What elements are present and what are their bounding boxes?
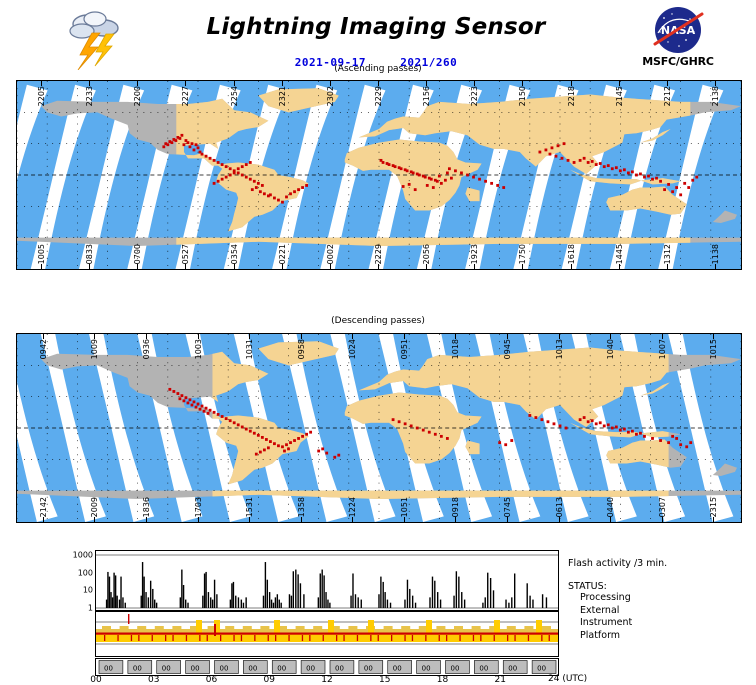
orbit-time-label-top: 1031 [245,339,254,359]
svg-text:00: 00 [133,665,142,673]
y-tick-label: 100 [78,568,93,577]
tick-mark [404,517,405,522]
x-tick-label: 06 [206,675,217,685]
tick-mark [249,517,250,522]
descending-orbit-map[interactable]: 0942100909361003103109581024095110180945… [16,333,742,523]
orbit-time-label-top: 1015 [709,339,718,359]
orbit-time-label-top: 2229 [374,86,383,106]
legend-item-instrument: Instrument [580,617,756,630]
tick-mark [41,264,42,269]
orbit-time-label-top: 0951 [400,339,409,359]
svg-text:00: 00 [479,665,488,673]
orbit-time-label-bottom: 1703 [194,497,203,517]
orbit-time-label-top: 0958 [297,339,306,359]
orbit-time-label-top: 2223 [470,86,479,106]
tick-mark [559,517,560,522]
descending-map-graphics [17,334,741,522]
svg-text:00: 00 [422,665,431,673]
orbit-time-label-top: 2254 [230,86,239,106]
orbit-time-label-bottom: 1051 [400,497,409,517]
orbit-time-label-top: 1009 [90,339,99,359]
tick-mark [662,517,663,522]
x-tick-label: 12 [321,675,332,685]
tick-mark [94,517,95,522]
orbit-time-label-top: 2302 [326,86,335,106]
x-tick-label: 21 [495,675,506,685]
orbit-time-label-bottom: 0002 [326,244,335,264]
svg-text:00: 00 [451,665,460,673]
orbit-time-label-top: 1040 [606,339,615,359]
orbit-time-label-bottom: 1312 [663,244,672,264]
orbit-time-label-top: 0945 [503,339,512,359]
orbit-time-label-bottom: 1358 [297,497,306,517]
orbit-time-label-bottom: 1005 [37,244,46,264]
orbit-time-label-bottom: 1531 [245,497,254,517]
tick-mark [474,264,475,269]
orbit-time-label-top: 2212 [663,86,672,106]
tick-mark [330,264,331,269]
orbit-time-label-top: 2218 [567,86,576,106]
page-title: Lightning Imaging Sensor [196,14,556,40]
x-tick-label: 09 [264,675,275,685]
tick-mark [234,264,235,269]
orbit-time-label-bottom: 1224 [348,497,357,517]
status-bars [96,612,558,656]
svg-text:00: 00 [537,665,546,673]
orbit-time-label-top: 2200 [133,86,142,106]
lis-daily-summary-page: Lightning Imaging Sensor 2021-09-17 2021… [0,0,756,680]
svg-text:00: 00 [162,665,171,673]
orbit-time-label-bottom: 0745 [503,497,512,517]
tick-mark [522,264,523,269]
utc-axis-label: 24 (UTC) [548,674,587,684]
legend-item-platform: Platform [580,630,756,643]
orbit-time-label-bottom: 2056 [422,244,431,264]
orbit-time-label-bottom: 0307 [658,497,667,517]
legend-status-title: STATUS: [568,581,756,592]
orbit-time-label-bottom: 2009 [90,497,99,517]
tick-mark [378,264,379,269]
clock-blocks: 00000000000000000000000000000000 [96,659,558,675]
orbit-time-label-bottom: 1836 [142,497,151,517]
svg-text:00: 00 [220,665,229,673]
tick-mark [352,517,353,522]
svg-text:00: 00 [364,665,373,673]
nasa-meatball-icon: NASA [646,6,710,54]
orbit-time-label-top: 1003 [194,339,203,359]
tick-mark [185,264,186,269]
tick-mark [89,264,90,269]
y-tick-label: 10 [83,586,93,595]
orbit-time-label-top: 2205 [37,86,46,106]
y-tick-label: 1 [88,604,93,613]
ascending-map-canvas [17,81,741,269]
orbit-time-label-top: 2227 [181,86,190,106]
tick-mark [715,264,716,269]
ascending-map-graphics [17,81,741,269]
legend-flash-title: Flash activity /3 min. [568,558,756,569]
svg-text:00: 00 [335,665,344,673]
tick-mark [610,517,611,522]
orbit-time-label-top: 1024 [348,339,357,359]
clock-strip[interactable]: 00000000000000000000000000000000 [95,658,559,676]
svg-text:00: 00 [508,665,517,673]
legend-item-external: External [580,605,756,618]
orbit-time-label-top: 2138 [711,86,720,106]
orbit-time-label-bottom: 0700 [133,244,142,264]
thundercloud-icon [62,8,132,70]
tick-mark [282,264,283,269]
tick-mark [571,264,572,269]
orbit-time-label-bottom: 2229 [374,244,383,264]
tick-mark [667,264,668,269]
descending-pass-caption: (Descending passes) [0,316,756,326]
orbit-time-label-bottom: 0221 [278,244,287,264]
flash-activity-chart-block: 1000100101 00000000000000000000000000000… [0,548,756,680]
orbit-time-label-bottom: 1923 [470,244,479,264]
orbit-time-label-top: 1013 [555,339,564,359]
orbit-time-label-bottom: 1445 [615,244,624,264]
orbit-time-label-top: 2321 [278,86,287,106]
orbit-time-label-bottom: 0833 [85,244,94,264]
nasa-logo: NASA MSFC/GHRC [625,6,731,74]
orbit-time-label-bottom: 0527 [181,244,190,264]
tick-mark [301,517,302,522]
legend-item-processing: Processing [580,592,756,605]
tick-mark [43,517,44,522]
tick-mark [198,517,199,522]
orbit-time-label-bottom: 0354 [230,244,239,264]
svg-text:00: 00 [393,665,402,673]
x-tick-label: 03 [148,675,159,685]
tick-mark [137,264,138,269]
orbit-time-label-top: 2145 [615,86,624,106]
tick-mark [426,264,427,269]
orbit-time-label-bottom: 0440 [606,497,615,517]
ascending-orbit-map[interactable]: 2205223322002227225423212302222921562223… [16,80,742,270]
svg-text:00: 00 [248,665,257,673]
flash-activity-plot[interactable]: 1000100101 [95,550,559,611]
svg-text:00: 00 [191,665,200,673]
orbit-time-label-bottom: 1750 [518,244,527,264]
orbit-time-label-bottom: 1138 [711,244,720,264]
nasa-center-label: MSFC/GHRC [625,55,731,68]
descending-map-canvas [17,334,741,522]
svg-text:00: 00 [306,665,315,673]
orbit-time-label-top: 2233 [85,86,94,106]
flash-activity-series [96,551,558,610]
orbit-time-label-top: 1007 [658,339,667,359]
tick-mark [507,517,508,522]
status-plot[interactable] [95,611,559,657]
orbit-time-label-bottom: 2142 [39,497,48,517]
tick-mark [713,517,714,522]
orbit-time-label-top: 0936 [142,339,151,359]
x-tick-label: 18 [437,675,448,685]
orbit-time-label-bottom: 0613 [555,497,564,517]
orbit-time-label-top: 2150 [518,86,527,106]
page-header: Lightning Imaging Sensor 2021-09-17 2021… [0,0,756,76]
orbit-time-label-bottom: 0918 [451,497,460,517]
tick-mark [146,517,147,522]
orbit-time-label-bottom: 1618 [567,244,576,264]
x-tick-label: 00 [90,675,101,685]
y-tick-label: 1000 [73,551,93,560]
svg-text:00: 00 [277,665,286,673]
tick-mark [455,517,456,522]
orbit-time-label-top: 1018 [451,339,460,359]
svg-text:00: 00 [104,665,113,673]
orbit-time-label-bottom: 2315 [709,497,718,517]
orbit-time-label-top: 2156 [422,86,431,106]
chart-legend: Flash activity /3 min. STATUS: Processin… [568,548,756,642]
x-tick-label: 15 [379,675,390,685]
tick-mark [619,264,620,269]
orbit-time-label-top: 0942 [39,339,48,359]
